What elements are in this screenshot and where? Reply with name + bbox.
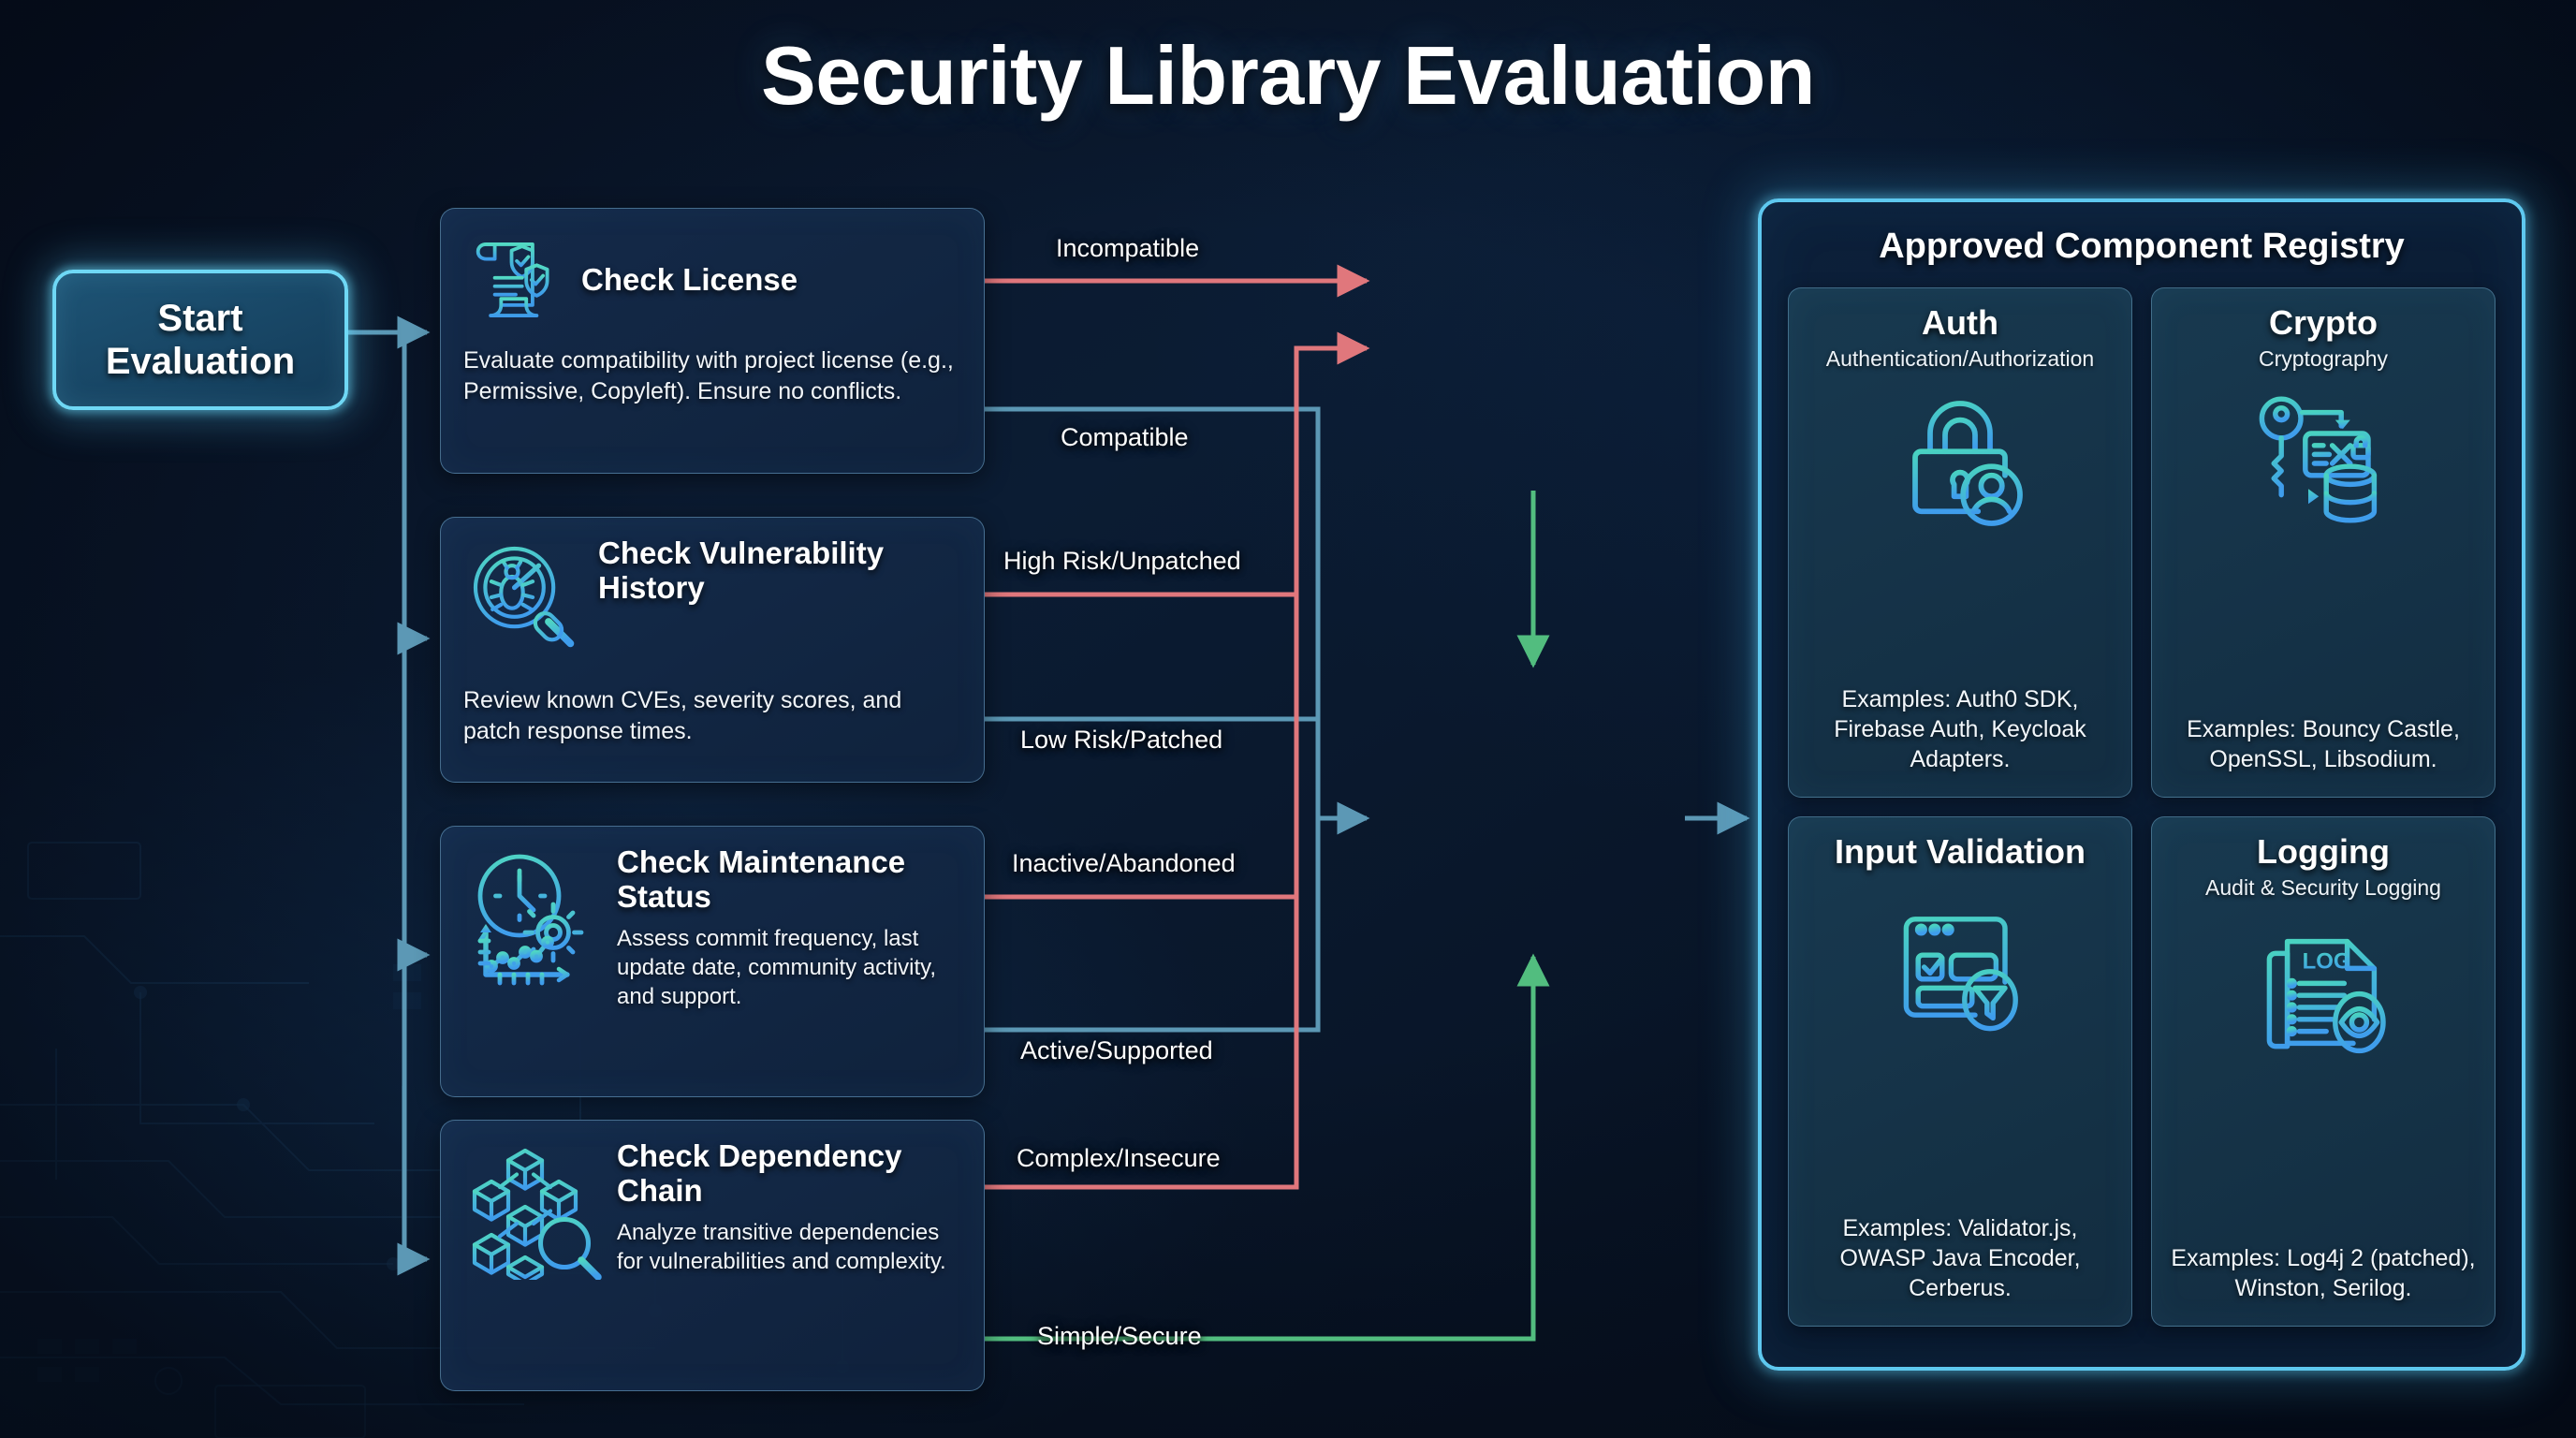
process-description: Evaluate compatibility with project lice… xyxy=(463,345,961,406)
process-title: Check Maintenance Status xyxy=(617,845,961,915)
edge-label-simple: Simple/Secure xyxy=(1037,1322,1202,1351)
bug-magnifier-icon xyxy=(463,536,585,658)
process-description: Review known CVEs, severity scores, and … xyxy=(463,685,963,746)
log-document-eye-icon: LOG xyxy=(2248,917,2398,1067)
dependency-blocks-magnifier-icon xyxy=(463,1139,604,1280)
edge-label-low-risk: Low Risk/Patched xyxy=(1020,726,1222,755)
process-card-check-maintenance-status[interactable]: Check Maintenance Status Assess commit f… xyxy=(440,826,985,1097)
registry-card-name: Auth xyxy=(1922,303,1998,343)
edge-label-inactive: Inactive/Abandoned xyxy=(1012,849,1236,878)
process-description: Analyze transitive dependencies for vuln… xyxy=(617,1218,961,1276)
key-cipher-database-icon xyxy=(2248,389,2398,538)
license-scroll-shield-icon xyxy=(463,227,568,332)
edge-label-incompatible: Incompatible xyxy=(1056,234,1199,263)
registry-title: Approved Component Registry xyxy=(1788,227,2495,267)
process-card-check-license[interactable]: Check License Evaluate compatibility wit… xyxy=(440,208,985,474)
start-label-line2: Evaluation xyxy=(106,340,295,383)
registry-card-name: Crypto xyxy=(2269,303,2378,343)
clock-gear-chart-icon xyxy=(463,845,604,986)
edge-license-compatible xyxy=(985,409,1367,818)
registry-card-name: Logging xyxy=(2257,832,2390,872)
registry-card-input-validation[interactable]: Input Validation Examples xyxy=(1788,816,2132,1327)
registry-card-logging[interactable]: Logging Audit & Security Logging LOG xyxy=(2151,816,2495,1327)
registry-card-subtitle: Cryptography xyxy=(2259,346,2388,372)
process-title: Check Dependency Chain xyxy=(617,1139,961,1209)
process-title: Check Vulnerability History xyxy=(598,536,961,606)
registry-card-subtitle: Audit & Security Logging xyxy=(2205,875,2441,901)
edge-label-complex: Complex/Insecure xyxy=(1017,1144,1221,1173)
edge-label-active: Active/Supported xyxy=(1020,1036,1213,1065)
registry-card-crypto[interactable]: Crypto Cryptography xyxy=(2151,287,2495,798)
start-label-line1: Start xyxy=(106,297,295,340)
registry-card-examples: Examples: Validator.js, OWASP Java Encod… xyxy=(1800,1213,2120,1309)
process-title: Check License xyxy=(581,263,798,298)
edge-label-high-risk: High Risk/Unpatched xyxy=(1003,547,1241,576)
form-checkbox-funnel-icon xyxy=(1885,892,2035,1042)
edge-label-compatible: Compatible xyxy=(1061,423,1189,452)
registry-card-name: Input Validation xyxy=(1835,832,2086,872)
start-evaluation-node[interactable]: Start Evaluation xyxy=(52,270,348,410)
registry-card-examples: Examples: Bouncy Castle, OpenSSL, Libsod… xyxy=(2163,714,2483,780)
registry-card-examples: Examples: Auth0 SDK, Firebase Auth, Keyc… xyxy=(1800,684,2120,780)
approved-component-registry-panel: Approved Component Registry Auth Authent… xyxy=(1758,198,2525,1371)
process-card-check-dependency-chain[interactable]: Check Dependency Chain Analyze transitiv… xyxy=(440,1120,985,1391)
registry-grid: Auth Authentication/Authorization Exampl… xyxy=(1788,287,2495,1327)
svg-text:LOG: LOG xyxy=(2303,948,2351,974)
registry-card-examples: Examples: Log4j 2 (patched), Winston, Se… xyxy=(2163,1243,2483,1309)
registry-card-auth[interactable]: Auth Authentication/Authorization Exampl… xyxy=(1788,287,2132,798)
process-description: Assess commit frequency, last update dat… xyxy=(617,924,961,1012)
lock-user-icon xyxy=(1885,389,2035,538)
process-card-check-vulnerability-history[interactable]: Check Vulnerability History Review known… xyxy=(440,517,985,783)
registry-card-subtitle: Authentication/Authorization xyxy=(1826,346,2094,372)
